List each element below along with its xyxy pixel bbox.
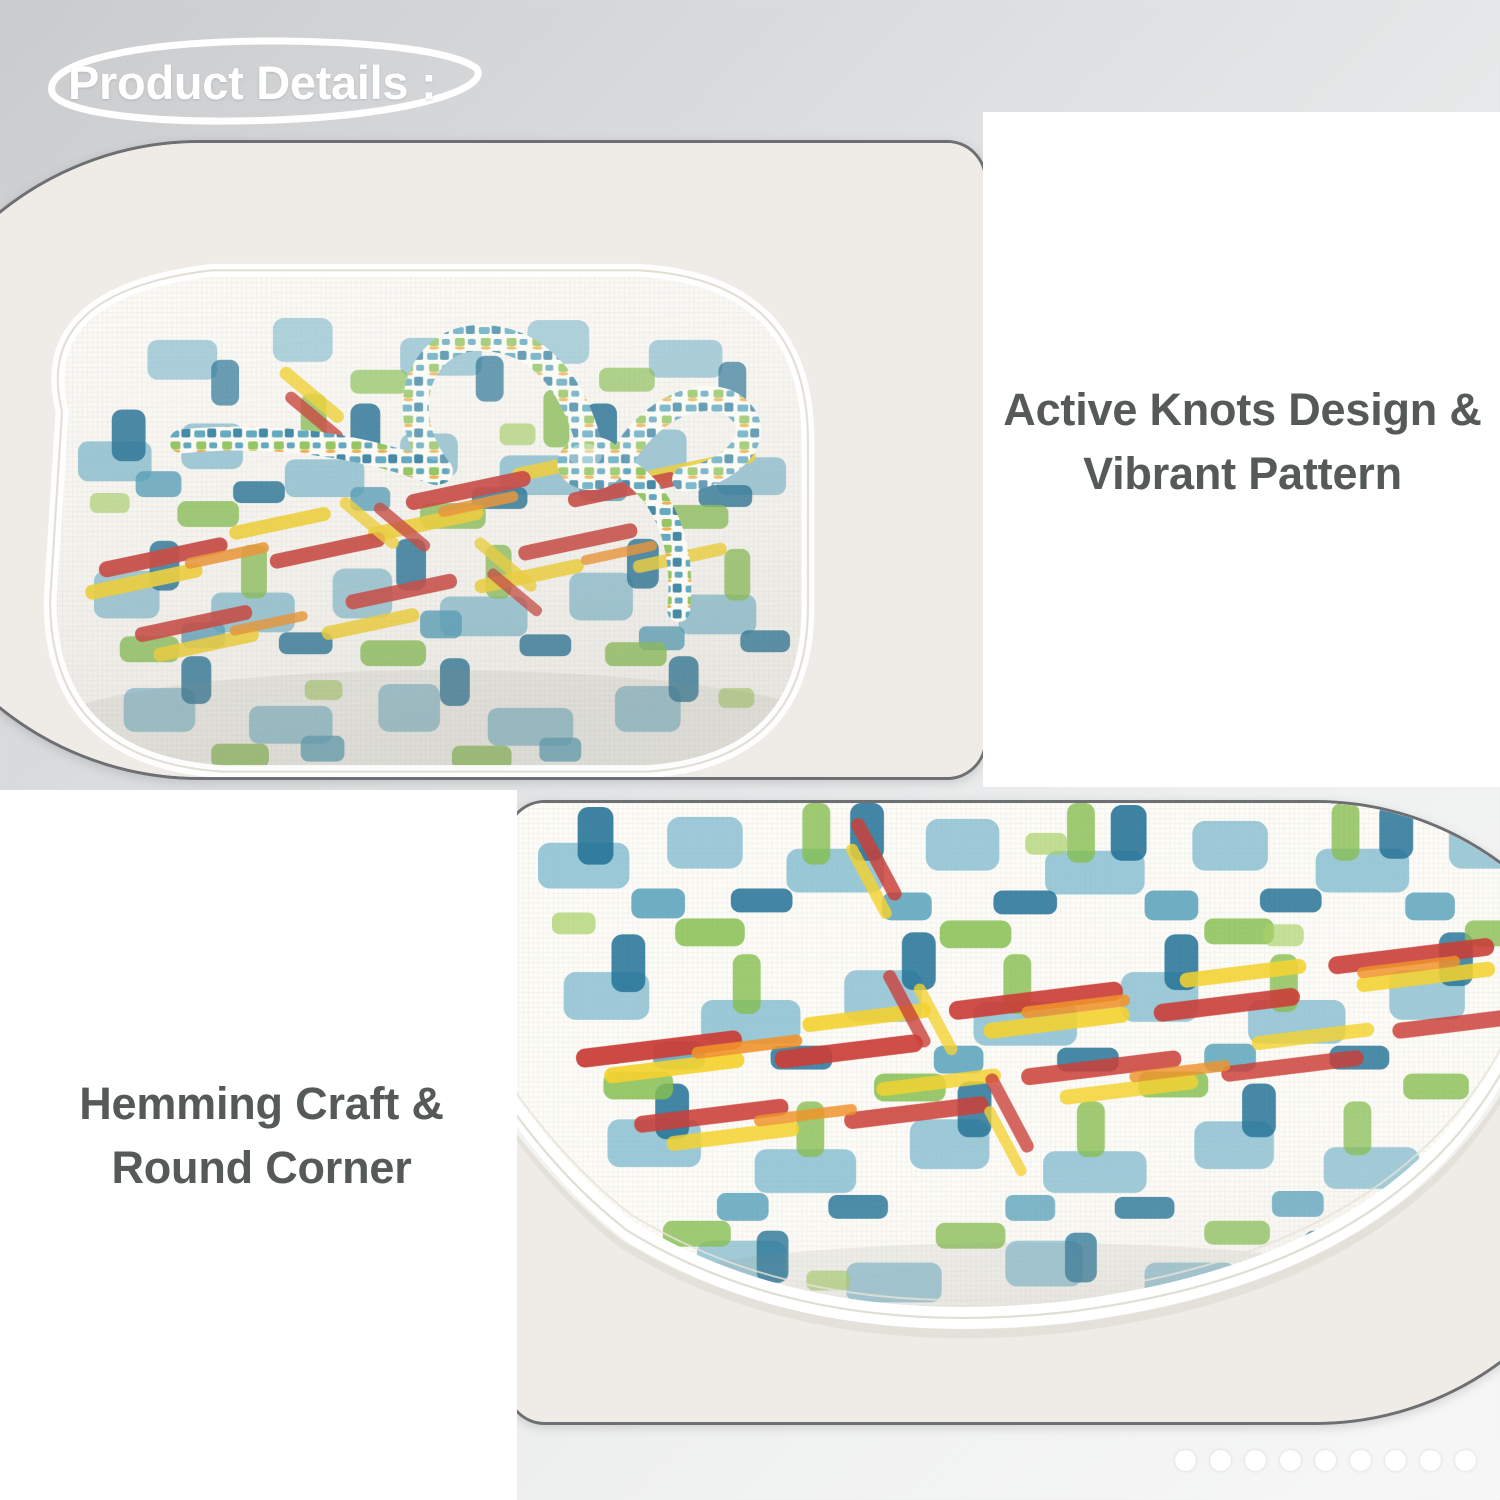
page-title-block: Product Details : xyxy=(30,28,500,138)
carousel-dot[interactable] xyxy=(1210,1450,1231,1471)
carousel-dots[interactable] xyxy=(1175,1450,1476,1471)
caption-hemming-craft-line2: Round Corner xyxy=(14,1136,509,1200)
carousel-dot[interactable] xyxy=(1175,1450,1196,1471)
carousel-dot[interactable] xyxy=(1385,1450,1406,1471)
caption-hemming-craft-line1: Hemming Craft & xyxy=(14,1072,509,1136)
carousel-dot[interactable] xyxy=(1350,1450,1371,1471)
page-title: Product Details : xyxy=(68,55,436,110)
carousel-dot[interactable] xyxy=(1420,1450,1441,1471)
carousel-dot[interactable] xyxy=(1315,1450,1336,1471)
cushion-corner-illustration xyxy=(508,803,1500,1425)
carousel-dot[interactable] xyxy=(1455,1450,1476,1471)
carousel-dot[interactable] xyxy=(1280,1450,1301,1471)
caption-hemming-craft: Hemming Craft & Round Corner xyxy=(14,1072,509,1200)
caption-active-knots-line1: Active Knots Design & xyxy=(990,378,1495,442)
chair-cushion-knot-photo xyxy=(0,140,987,780)
cushion-knot-illustration xyxy=(0,143,984,780)
caption-active-knots: Active Knots Design & Vibrant Pattern xyxy=(990,378,1495,506)
carousel-dot[interactable] xyxy=(1245,1450,1266,1471)
chair-cushion-corner-photo xyxy=(505,800,1500,1425)
caption-active-knots-line2: Vibrant Pattern xyxy=(990,442,1495,506)
